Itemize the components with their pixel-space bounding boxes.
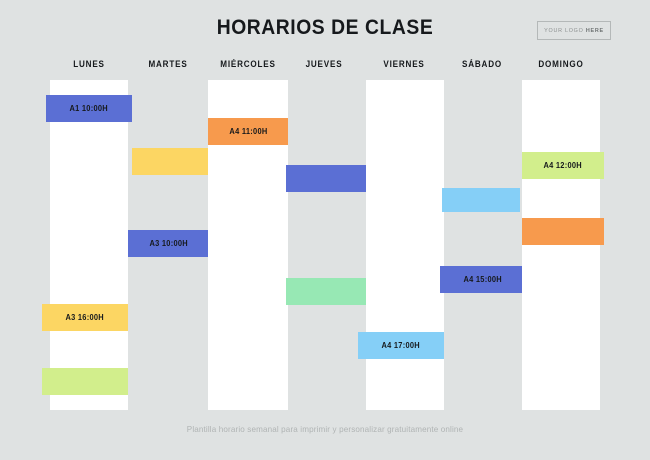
event-label: A4 11:00H — [229, 127, 267, 136]
event-block-empty[interactable] — [286, 278, 366, 305]
event-block-empty[interactable] — [522, 218, 604, 245]
event-block[interactable]: A4 12:00H — [522, 152, 604, 179]
event-block[interactable]: A4 17:00H — [358, 332, 444, 359]
schedule-page: HORARIOS DE CLASE YOUR LOGO HERE LUNESA1… — [0, 0, 650, 460]
event-block[interactable]: A1 10:00H — [46, 95, 132, 122]
event-label: A4 12:00H — [544, 161, 582, 170]
day-header-domingo: DOMINGO — [507, 59, 615, 69]
logo-placeholder-box[interactable]: YOUR LOGO HERE — [537, 21, 611, 40]
event-label: A4 17:00H — [382, 341, 420, 350]
event-label: A1 10:00H — [70, 104, 108, 113]
event-label: A3 10:00H — [150, 239, 188, 248]
logo-placeholder-text: YOUR LOGO HERE — [544, 28, 604, 34]
event-label: A3 16:00H — [66, 313, 104, 322]
day-column-domingo — [522, 80, 600, 410]
day-column-sabado — [444, 80, 522, 410]
day-column-lunes — [50, 80, 128, 410]
event-block-empty[interactable] — [442, 188, 520, 212]
footer-caption: Plantilla horario semanal para imprimir … — [16, 424, 634, 434]
event-block-empty[interactable] — [132, 148, 210, 175]
event-block[interactable]: A4 15:00H — [440, 266, 526, 293]
page-header: HORARIOS DE CLASE YOUR LOGO HERE — [0, 0, 650, 52]
event-label: A4 15:00H — [464, 275, 502, 284]
day-column-viernes — [366, 80, 444, 410]
logo-text-bold: HERE — [586, 28, 604, 34]
event-block[interactable]: A3 10:00H — [128, 230, 210, 257]
page-title: HORARIOS DE CLASE — [26, 16, 624, 40]
event-block-empty[interactable] — [42, 368, 128, 395]
event-block[interactable]: A3 16:00H — [42, 304, 128, 331]
event-block-empty[interactable] — [286, 165, 366, 192]
day-column-jueves — [286, 80, 364, 410]
event-block[interactable]: A4 11:00H — [208, 118, 288, 145]
logo-text-normal: YOUR LOGO — [544, 28, 586, 34]
